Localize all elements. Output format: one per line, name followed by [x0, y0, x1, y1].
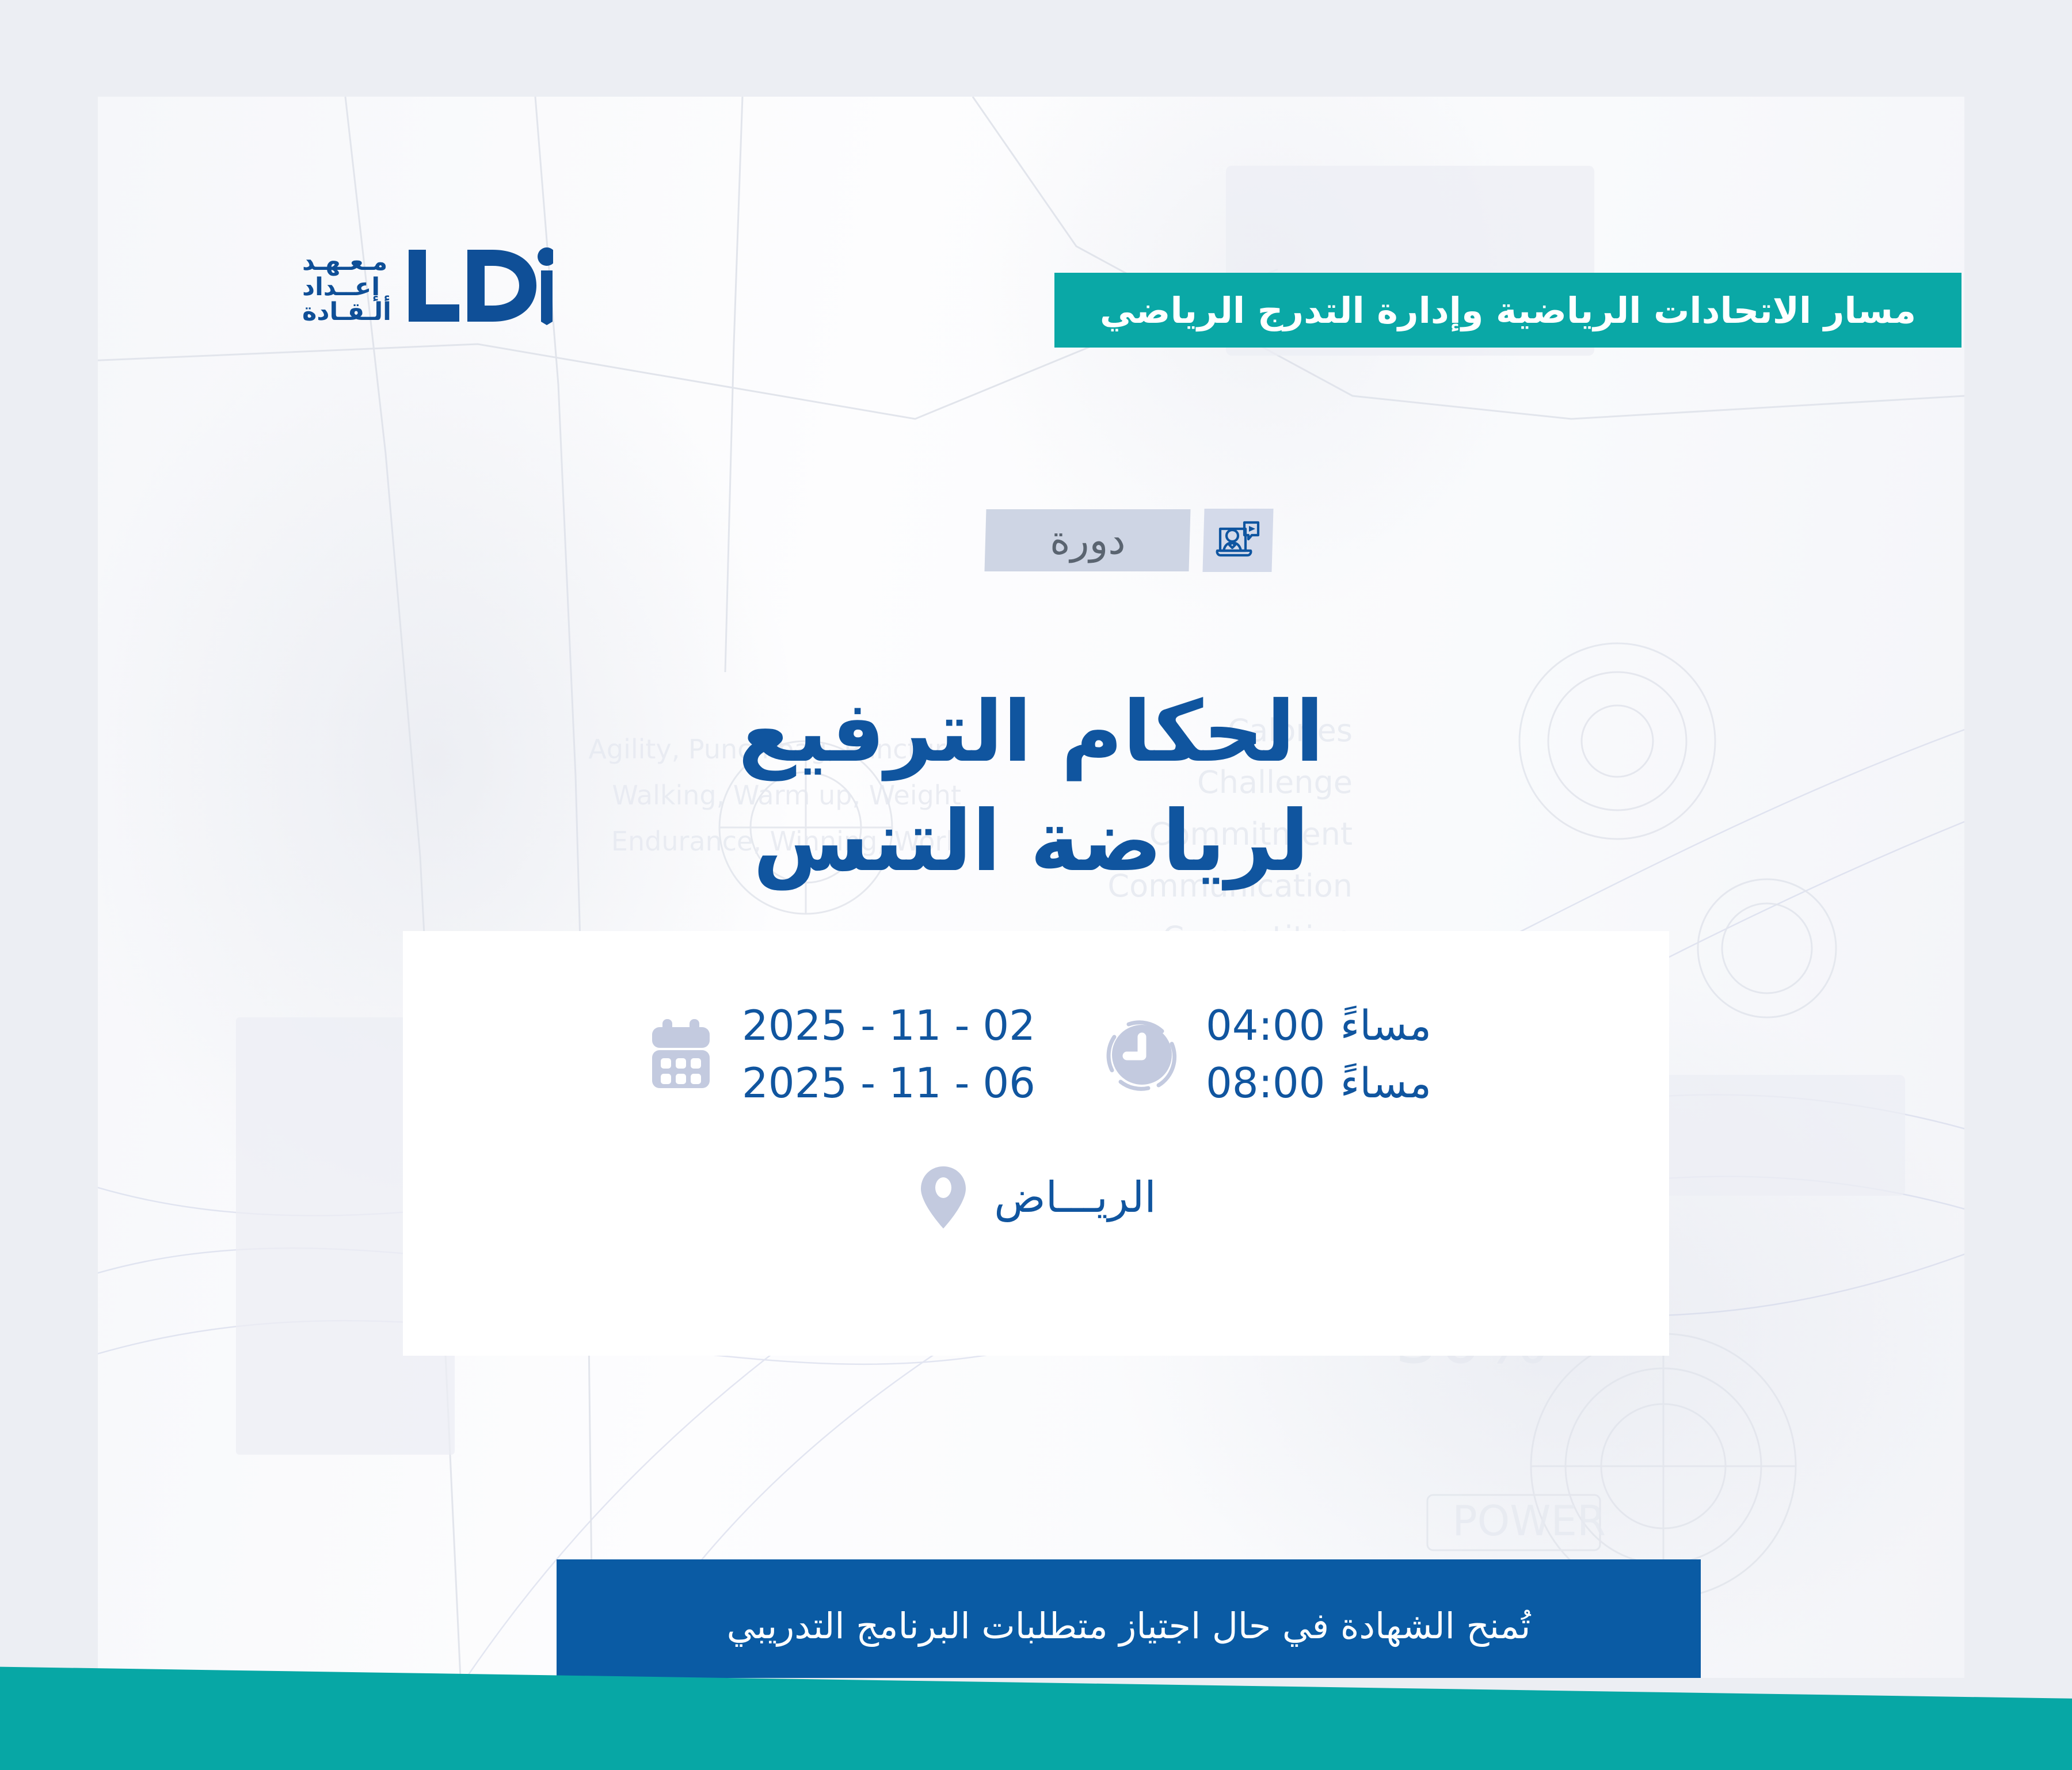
track-banner-label: مسار الاتحادات الرياضية وإدارة التدرج ال…	[1100, 289, 1916, 331]
time-end-value: 08:00	[1206, 1056, 1326, 1111]
date-block: 2025 - 11 - 02 2025 - 11 - 06	[641, 999, 1035, 1110]
track-banner: مسار الاتحادات الرياضية وإدارة التدرج ال…	[1054, 273, 1961, 348]
location-label: الريـــاض	[994, 1173, 1156, 1222]
brand-logo: مـعـهـد إعــداد ألـقـادة	[302, 247, 553, 327]
location-pin-icon	[916, 1163, 971, 1232]
program-type-chip: دورة	[984, 509, 1190, 571]
title-line-1: الحكام الترفيع	[98, 678, 1964, 787]
poster-root: Calories Challenge Commitment Communicat…	[0, 0, 2072, 1770]
details-card: مساءً 04:00 مساءً 08:00	[403, 931, 1669, 1356]
content-area: Calories Challenge Commitment Communicat…	[98, 97, 1964, 1678]
calendar-icon	[641, 1014, 721, 1095]
time-start-line: مساءً 04:00	[1206, 999, 1431, 1053]
title-line-2: لرياضة التنس	[98, 787, 1964, 897]
time-block: مساءً 04:00 مساءً 08:00	[1099, 999, 1431, 1110]
certificate-note-text: تُمنح الشهادة في حال اجتياز متطلبات البر…	[727, 1605, 1531, 1647]
program-type-row: دورة	[985, 509, 1273, 572]
certificate-note-banner: تُمنح الشهادة في حال اجتياز متطلبات البر…	[557, 1559, 1701, 1678]
details-grid: مساءً 04:00 مساءً 08:00	[403, 966, 1669, 1110]
page-title: الحكام الترفيع لرياضة التنس	[98, 678, 1964, 897]
time-start-value: 04:00	[1206, 999, 1326, 1053]
logo-line-1: مـعـهـد	[302, 250, 387, 275]
logo-line-3: ألـقـادة	[302, 300, 391, 325]
time-end-period: مساءً	[1340, 1056, 1431, 1111]
location-block: الريـــاض	[403, 1163, 1669, 1232]
time-start-period: مساءً	[1340, 999, 1431, 1053]
logo-line-2: إعــداد	[302, 275, 380, 300]
webinar-presenter-icon	[1202, 509, 1273, 572]
date-end: 2025 - 11 - 06	[742, 1056, 1035, 1111]
date-values: 2025 - 11 - 02 2025 - 11 - 06	[742, 999, 1035, 1110]
ldi-logo-icon	[406, 247, 553, 327]
time-end-line: مساءً 08:00	[1206, 1056, 1431, 1111]
program-type-label: دورة	[1050, 518, 1126, 563]
brand-logo-wordmark: مـعـهـد إعــداد ألـقـادة	[302, 250, 391, 326]
date-start: 2025 - 11 - 02	[742, 999, 1035, 1053]
time-values: مساءً 04:00 مساءً 08:00	[1206, 999, 1431, 1110]
clock-icon	[1099, 1012, 1185, 1098]
